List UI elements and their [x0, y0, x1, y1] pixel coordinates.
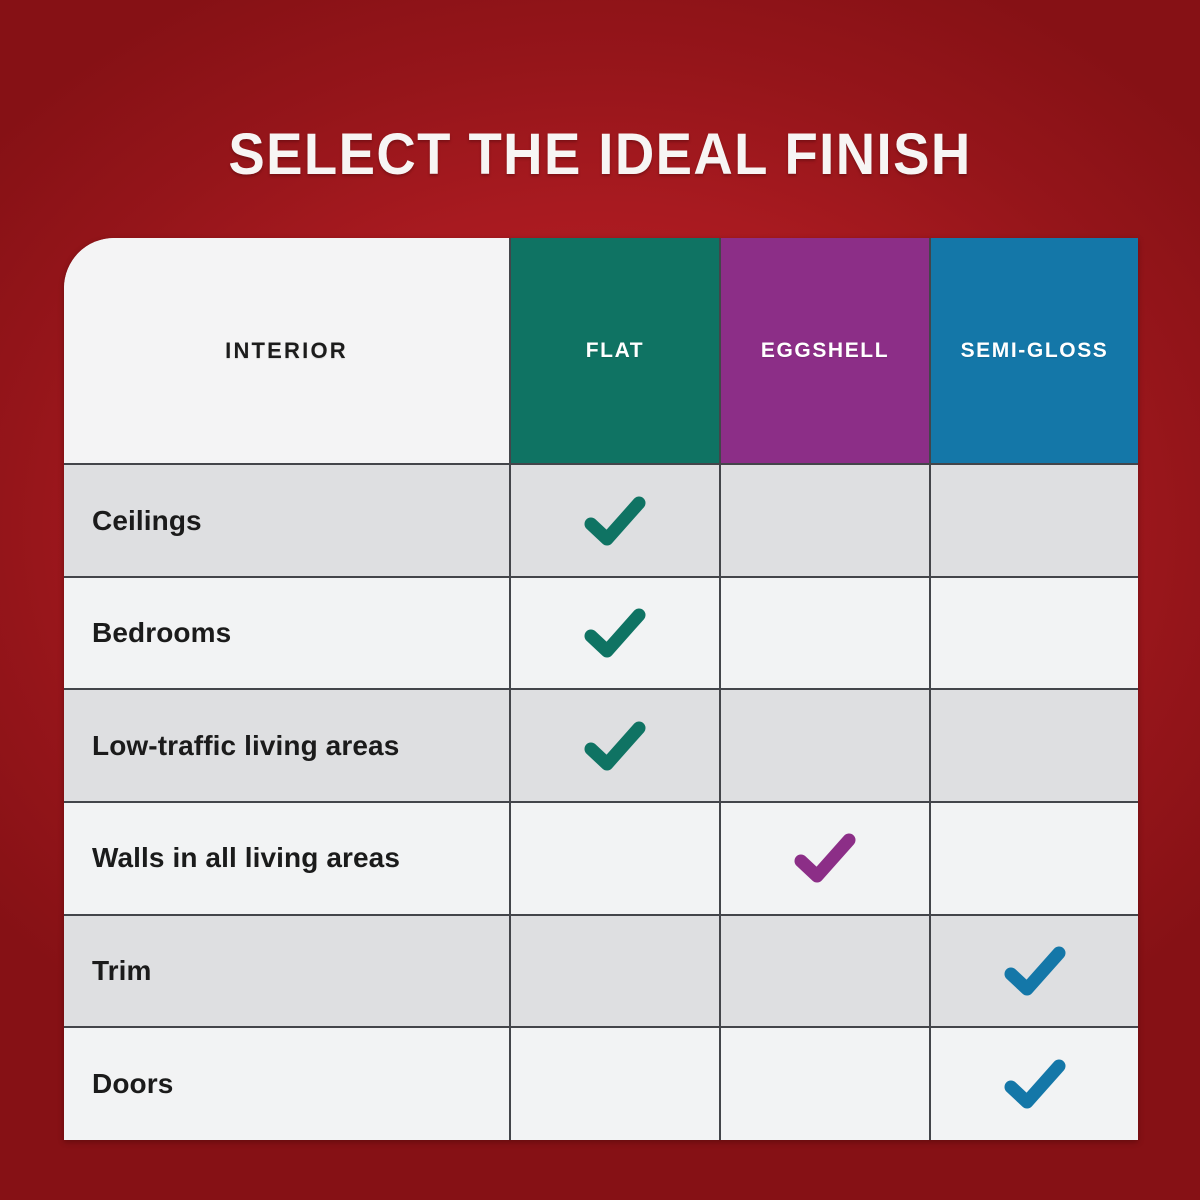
table-header-row: INTERIOR FLAT EGGSHELL SEMI-GLOSS	[64, 238, 1138, 464]
table-row: Doors	[64, 1027, 1138, 1140]
checkmark-icon	[1004, 944, 1066, 998]
column-header-interior-label: INTERIOR	[64, 337, 509, 365]
table-row: Bedrooms	[64, 577, 1138, 690]
cell-semigloss	[930, 915, 1138, 1028]
cell-semigloss	[930, 1027, 1138, 1140]
checkmark-icon	[584, 494, 646, 548]
checkmark-icon	[584, 719, 646, 773]
cell-eggshell	[720, 689, 930, 802]
cell-flat	[510, 464, 720, 577]
cell-eggshell	[720, 802, 930, 915]
empty-cell-marker	[1004, 494, 1066, 548]
checkmark-icon	[584, 606, 646, 660]
finish-comparison-table: INTERIOR FLAT EGGSHELL SEMI-GLOSS Ceilin…	[64, 238, 1138, 1140]
column-header-semigloss-label: SEMI-GLOSS	[931, 337, 1138, 365]
row-label-cell: Walls in all living areas	[64, 802, 510, 915]
empty-cell-marker	[794, 944, 856, 998]
cell-flat	[510, 915, 720, 1028]
cell-semigloss	[930, 577, 1138, 690]
cell-flat	[510, 1027, 720, 1140]
cell-semigloss	[930, 464, 1138, 577]
column-header-eggshell-label: EGGSHELL	[721, 337, 929, 365]
table-row: Trim	[64, 915, 1138, 1028]
checkmark-icon	[1004, 1057, 1066, 1111]
empty-cell-marker	[584, 1057, 646, 1111]
cell-flat	[510, 802, 720, 915]
table-row: Ceilings	[64, 464, 1138, 577]
empty-cell-marker	[794, 494, 856, 548]
cell-semigloss	[930, 802, 1138, 915]
cell-semigloss	[930, 689, 1138, 802]
cell-eggshell	[720, 577, 930, 690]
column-header-flat-label: FLAT	[511, 337, 719, 365]
empty-cell-marker	[584, 831, 646, 885]
table-row: Low-traffic living areas	[64, 689, 1138, 802]
page-title: SELECT THE IDEAL FINISH	[36, 123, 1164, 187]
empty-cell-marker	[794, 1057, 856, 1111]
cell-flat	[510, 577, 720, 690]
cell-flat	[510, 689, 720, 802]
column-header-eggshell: EGGSHELL	[720, 238, 930, 464]
infographic-canvas: SELECT THE IDEAL FINISH INTERIOR FLAT EG…	[0, 0, 1200, 1200]
cell-eggshell	[720, 1027, 930, 1140]
table-body: INTERIOR FLAT EGGSHELL SEMI-GLOSS Ceilin…	[64, 238, 1138, 1140]
column-header-interior: INTERIOR	[64, 238, 510, 464]
cell-eggshell	[720, 464, 930, 577]
row-label-cell: Bedrooms	[64, 577, 510, 690]
row-label-cell: Doors	[64, 1027, 510, 1140]
empty-cell-marker	[584, 944, 646, 998]
row-label-cell: Trim	[64, 915, 510, 1028]
empty-cell-marker	[1004, 606, 1066, 660]
checkmark-icon	[794, 831, 856, 885]
column-header-flat: FLAT	[510, 238, 720, 464]
empty-cell-marker	[794, 606, 856, 660]
empty-cell-marker	[1004, 719, 1066, 773]
table-row: Walls in all living areas	[64, 802, 1138, 915]
column-header-semigloss: SEMI-GLOSS	[930, 238, 1138, 464]
empty-cell-marker	[794, 719, 856, 773]
row-label-cell: Low-traffic living areas	[64, 689, 510, 802]
row-label-cell: Ceilings	[64, 464, 510, 577]
empty-cell-marker	[1004, 831, 1066, 885]
cell-eggshell	[720, 915, 930, 1028]
